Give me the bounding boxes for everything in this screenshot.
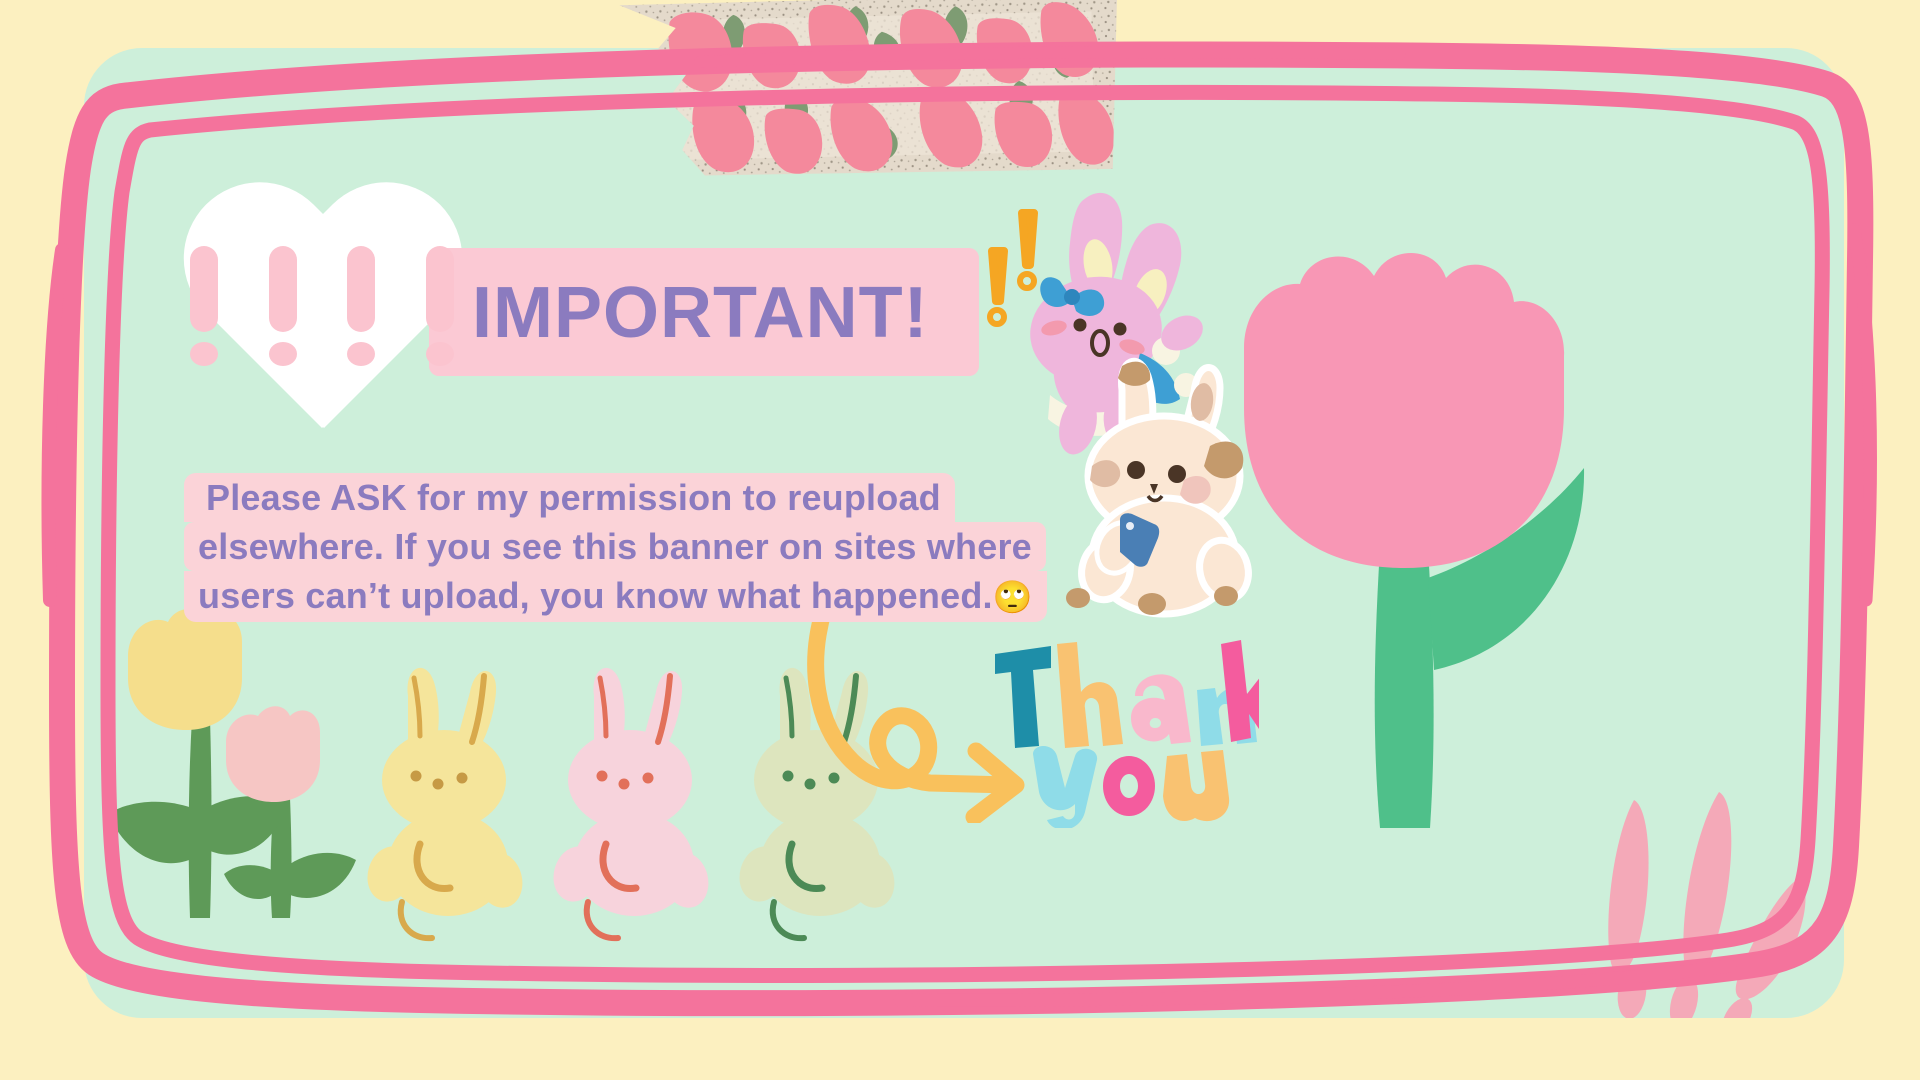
- card-background: IMPORTANT! Please ASK for my permission …: [84, 48, 1844, 1018]
- pink-bunny-cookie: [547, 668, 714, 938]
- banner-canvas: IMPORTANT! Please ASK for my permission …: [0, 0, 1920, 1080]
- exclamation-mark: [269, 246, 297, 376]
- notice-line-3-wrap: users can’t upload, you know what happen…: [184, 571, 1047, 622]
- page-title: IMPORTANT!: [472, 263, 992, 363]
- thank-you-lettering: [989, 638, 1259, 828]
- exclamation-marks: [190, 246, 454, 376]
- eye-roll-emoji: 🙄: [993, 579, 1033, 615]
- heart-with-exclamations: [172, 188, 472, 448]
- exclamation-marks: [990, 213, 1034, 324]
- notice-text: Please ASK for my permission to reupload…: [184, 473, 1074, 622]
- exclamation-mark: [347, 246, 375, 376]
- notice-line-3: users can’t upload, you know what happen…: [198, 575, 993, 616]
- exclamation-mark: [426, 246, 454, 376]
- notice-line-1: Please ASK for my permission to reupload: [184, 473, 955, 522]
- small-tulips: [94, 608, 374, 928]
- exclamation-mark: [190, 246, 218, 376]
- bunny-with-phone: [1044, 348, 1284, 623]
- tulip-washi-tape: [613, 0, 1127, 181]
- falling-petals: [1554, 788, 1844, 1018]
- yellow-bunny-cookie: [361, 668, 528, 938]
- notice-line-2: elsewhere. If you see this banner on sit…: [184, 522, 1046, 571]
